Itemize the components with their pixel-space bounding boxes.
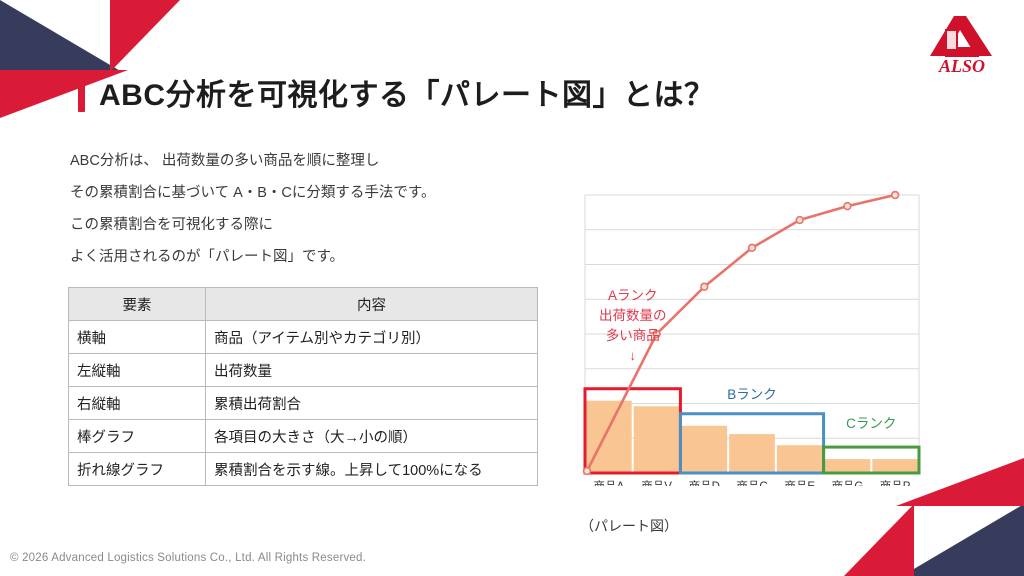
bar-商品C <box>729 434 775 473</box>
logo-wordmark: ALSO <box>938 56 985 76</box>
table-row: 折れ線グラフ 累積割合を示す線。上昇して100%になる <box>69 453 538 486</box>
annotation-line: Aランク <box>608 288 658 303</box>
footer-copyright: © 2026 Advanced Logistics Solutions Co.,… <box>10 552 366 564</box>
table-header-element: 要素 <box>69 288 206 321</box>
x-tick-商品G: 商品G <box>831 479 863 486</box>
table-cell-content: 累積出荷割合 <box>206 387 538 420</box>
body-copy: ABC分析は、 出荷数量の多い商品を順に整理し その累積割合に基づいて A・B・… <box>70 152 540 281</box>
also-logo: ALSO <box>916 8 1008 78</box>
corner-decoration-top-left-red-upper <box>110 0 180 72</box>
table-cell-element: 棒グラフ <box>69 420 206 453</box>
logo-mark-icon <box>930 16 992 56</box>
x-tick-商品E: 商品E <box>784 479 815 486</box>
body-line-1: ABC分析は、 出荷数量の多い商品を順に整理し <box>70 152 540 170</box>
corner-decoration-bottom-right-red-lower <box>844 504 914 576</box>
corner-decoration-top-left-navy <box>0 0 122 72</box>
line-marker-商品A <box>584 468 591 475</box>
slide: ALSO ABC分析を可視化する「パレート図」とは？ ABC分析は、 出荷数量の… <box>0 0 1024 576</box>
title-text: ABC分析を可視化する「パレート図」とは？ <box>99 70 715 114</box>
annotation-line: ↓ <box>629 348 636 363</box>
pareto-chart: Aランク出荷数量の多い商品↓BランクCランク商品A商品V商品D商品C商品E商品G… <box>578 186 930 486</box>
table-cell-content: 累積割合を示す線。上昇して100%になる <box>206 453 538 486</box>
table-cell-content: 商品（アイテム別やカテゴリ別） <box>206 321 538 354</box>
bar-商品G <box>825 459 871 473</box>
table-row: 横軸 商品（アイテム別やカテゴリ別） <box>69 321 538 354</box>
table-cell-content: 各項目の大きさ（大→小の順） <box>206 420 538 453</box>
body-line-3: この累積割合を可視化する際に <box>70 216 540 234</box>
title-accent-bar <box>78 72 85 112</box>
body-line-2: その累積割合に基づいて A・B・Cに分類する手法です。 <box>70 184 540 202</box>
table-cell-element: 折れ線グラフ <box>69 453 206 486</box>
table-row: 右縦軸 累積出荷割合 <box>69 387 538 420</box>
table-row: 棒グラフ 各項目の大きさ（大→小の順） <box>69 420 538 453</box>
corner-decoration-bottom-right-navy <box>902 504 1024 576</box>
line-marker-商品C <box>749 244 756 251</box>
annotation-a-rank: Aランク出荷数量の多い商品↓ <box>599 288 667 363</box>
annotation-line: 多い商品 <box>606 327 660 343</box>
line-marker-商品P <box>892 192 899 199</box>
x-tick-商品C: 商品C <box>736 479 767 486</box>
table-header-row: 要素 内容 <box>69 288 538 321</box>
elements-table: 要素 内容 横軸 商品（アイテム別やカテゴリ別） 左縦軸 出荷数量 右縦軸 累積… <box>68 287 538 486</box>
annotation-line: Bランク <box>727 387 777 402</box>
table-cell-element: 右縦軸 <box>69 387 206 420</box>
annotation-c-rank: Cランク <box>846 416 896 431</box>
table-row: 左縦軸 出荷数量 <box>69 354 538 387</box>
annotation-line: 出荷数量の <box>599 308 667 323</box>
x-tick-商品P: 商品P <box>880 479 911 486</box>
annotation-line: Cランク <box>846 416 896 431</box>
chart-caption: （パレート図） <box>580 516 678 536</box>
body-line-4: よく活用されるのが「パレート図」です。 <box>70 248 540 266</box>
bar-商品V <box>634 406 680 473</box>
table-cell-element: 横軸 <box>69 321 206 354</box>
x-tick-商品D: 商品D <box>689 479 720 486</box>
line-marker-商品G <box>844 203 851 210</box>
bar-商品D <box>681 426 727 473</box>
annotation-b-rank: Bランク <box>727 387 777 402</box>
table-header-content: 内容 <box>206 288 538 321</box>
table-cell-element: 左縦軸 <box>69 354 206 387</box>
bar-商品E <box>777 445 823 473</box>
x-tick-商品A: 商品A <box>594 479 625 486</box>
bar-商品P <box>872 459 918 473</box>
line-marker-商品D <box>701 283 708 290</box>
table-cell-content: 出荷数量 <box>206 354 538 387</box>
x-tick-商品V: 商品V <box>641 479 672 486</box>
line-marker-商品E <box>796 217 803 224</box>
page-title: ABC分析を可視化する「パレート図」とは？ <box>78 70 715 114</box>
